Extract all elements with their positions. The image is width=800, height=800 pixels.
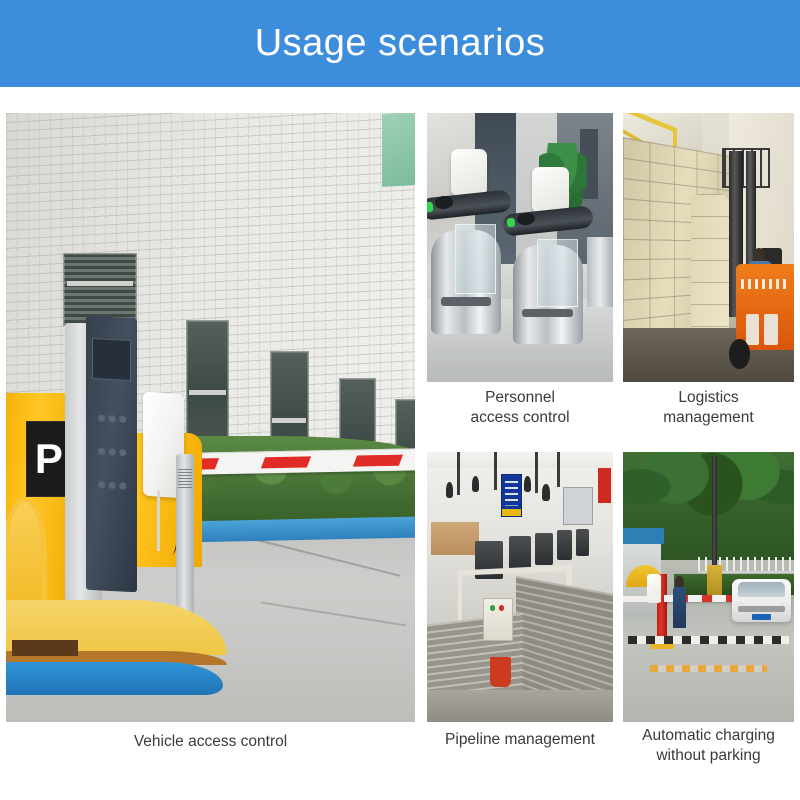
turnstile-vent-slot: [522, 309, 573, 317]
ceiling-lamp: [524, 476, 531, 492]
guard-booth-roof: [623, 528, 664, 544]
kiosk-display-screen: [92, 338, 131, 381]
ground-marking-stripe: [650, 665, 766, 672]
rfid-reading-station: [576, 529, 589, 556]
photo-personnel-access-control: [427, 113, 613, 382]
traffic-island-blue-kerb: [6, 662, 223, 695]
photo-pipeline-management: [427, 452, 613, 722]
ceiling-pipe: [494, 452, 497, 490]
car-grille: [738, 606, 785, 612]
scene-automatic-charging: [623, 452, 794, 722]
red-wall-banner: [598, 468, 611, 503]
caption-automatic-charging: Automatic charging without parking: [623, 726, 794, 766]
lamp-post-base: [707, 565, 722, 597]
roller-shutter-door: [563, 487, 593, 525]
building-green-louver: [382, 113, 415, 187]
caption-pipeline-management: Pipeline management: [427, 730, 613, 750]
factory-floor: [427, 690, 613, 722]
forklift-wheel: [729, 339, 750, 369]
side-railing: [623, 596, 661, 602]
white-car: [732, 579, 790, 622]
secondary-equipment-housing: [176, 454, 194, 618]
guide-railing: [587, 237, 613, 307]
turnstile-glass-wing: [537, 239, 578, 306]
caption-logistics-management: Logistics management: [623, 388, 794, 428]
security-guard: [673, 587, 687, 628]
parking-p-letter: P: [27, 422, 70, 496]
control-green-indicator: [490, 605, 495, 610]
conveyor-control-box: [483, 598, 513, 641]
caption-line: Automatic charging: [623, 726, 794, 746]
photo-automatic-charging: [623, 452, 794, 722]
usage-scenarios-page: Usage scenarios P: [0, 0, 800, 800]
ceiling-pipe: [535, 452, 538, 493]
ceiling-lamp: [472, 476, 479, 492]
red-bucket: [490, 657, 510, 687]
kiosk-control-panel: [86, 316, 137, 593]
page-title: Usage scenarios: [255, 22, 546, 65]
forklift-panel: [764, 314, 778, 345]
turnstile-top-cover: [502, 205, 594, 236]
page-header-banner: Usage scenarios: [0, 0, 800, 87]
turnstile-rfid-reader: [451, 149, 488, 197]
ceiling-pipe: [557, 452, 560, 487]
rfid-reading-station: [535, 533, 554, 565]
caption-line: Pipeline management: [427, 730, 613, 750]
barrier-arm-stripe: [261, 456, 311, 468]
rfid-reading-station: [509, 536, 531, 571]
photo-logistics-management: [623, 113, 794, 382]
barrier-arm-stripe: [352, 454, 402, 466]
forklift-panel: [746, 314, 760, 345]
caption-line: management: [623, 408, 794, 428]
car-windshield: [738, 582, 786, 597]
caption-line: Personnel: [427, 388, 613, 408]
wall-information-sign: [501, 474, 521, 517]
scene-pipeline-management: [427, 452, 613, 722]
kiosk-keypad: [95, 404, 128, 504]
speed-gate-turnstile: [513, 210, 584, 345]
caption-personnel-access-control: Personnel access control: [427, 388, 613, 428]
ground-marking-stripe: [628, 636, 789, 644]
barrier-arm-stripe: [702, 595, 713, 602]
forklift-brand-marking: [741, 279, 789, 289]
speed-gate-turnstile: [431, 194, 502, 334]
rfid-reading-station: [557, 530, 572, 560]
forklift-body: [736, 264, 794, 350]
rfid-reader-pole: [157, 491, 160, 552]
pillar-base-shadow: [12, 640, 77, 656]
stacked-cartons: [431, 522, 479, 554]
turnstile-glass-wing: [455, 224, 496, 294]
photo-vehicle-access-control: P: [6, 113, 415, 722]
scene-vehicle-access-control: P: [6, 113, 415, 722]
turnstile-vent-slot: [441, 297, 492, 305]
caption-line: Logistics: [623, 388, 794, 408]
ceiling-lamp: [446, 482, 453, 498]
ceiling-pipe: [457, 452, 460, 495]
scene-logistics-management: [623, 113, 794, 382]
car-license-plate: [752, 614, 771, 619]
equipment-label-plate: [178, 469, 191, 489]
caption-line: Vehicle access control: [6, 732, 415, 752]
caption-vehicle-access-control: Vehicle access control: [6, 732, 415, 752]
blue-curb: [186, 516, 415, 542]
caption-line: without parking: [623, 746, 794, 766]
building-vent-window: [63, 253, 137, 326]
scene-personnel-access-control: [427, 113, 613, 382]
bale-stack-front: [691, 194, 729, 350]
caption-line: access control: [427, 408, 613, 428]
turnstile-rfid-reader: [532, 167, 569, 213]
control-red-indicator: [499, 605, 504, 610]
ceiling-lamp: [542, 484, 549, 500]
